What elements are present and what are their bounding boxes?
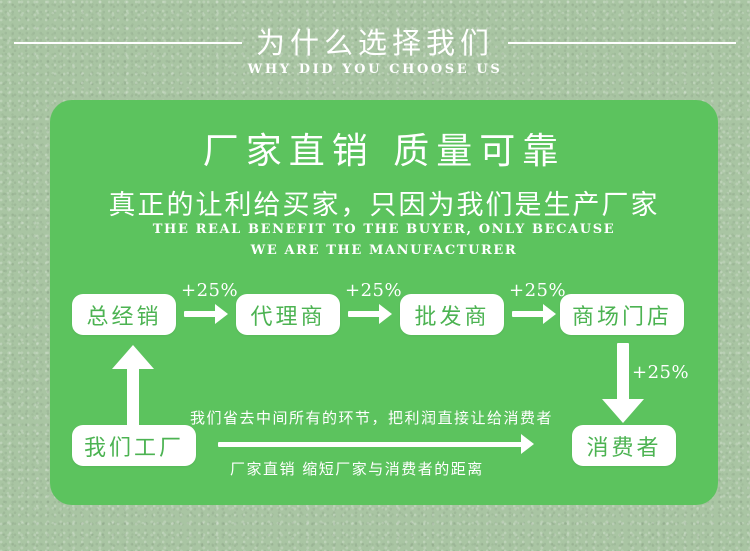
- arrow-shaft: [184, 311, 216, 317]
- header-subtitle: WHY DID YOU CHOOSE US: [0, 62, 750, 77]
- flow-box-factory: 我们工厂: [72, 425, 196, 466]
- arrow-head: [521, 434, 534, 454]
- arrow-up-icon: [112, 345, 154, 431]
- markup-label: +25%: [345, 280, 402, 301]
- caption-below-arrow: 厂家直销 缩短厂家与消费者的距离: [230, 458, 484, 479]
- arrow-right-icon: [512, 304, 556, 324]
- panel-headline: 厂家直销 质量可靠: [50, 122, 718, 174]
- flow-box-wholesaler: 批发商: [400, 294, 504, 335]
- header-rule-left: [14, 42, 242, 44]
- arrow-head: [112, 345, 154, 369]
- arrow-right-icon: [184, 304, 228, 324]
- arrow-right-long-icon: [218, 434, 538, 454]
- content-panel: 厂家直销 质量可靠 真正的让利给买家，只因为我们是生产厂家 THE REAL B…: [50, 100, 718, 505]
- panel-subheadline: 真正的让利给买家，只因为我们是生产厂家: [50, 183, 718, 222]
- header-title-row: 为什么选择我们: [0, 22, 750, 64]
- arrow-shaft: [127, 367, 139, 431]
- header-rule-right: [508, 42, 736, 44]
- markup-label: +25%: [509, 280, 566, 301]
- arrow-shaft: [218, 442, 524, 447]
- flow-box-agent: 代理商: [236, 294, 340, 335]
- arrow-shaft: [512, 311, 544, 317]
- panel-english-line-1: THE REAL BENEFIT TO THE BUYER, ONLY BECA…: [50, 222, 718, 237]
- flow-box-consumer: 消费者: [572, 425, 676, 466]
- page-header: 为什么选择我们 WHY DID YOU CHOOSE US: [0, 0, 750, 100]
- flow-box-distributor: 总经销: [72, 294, 176, 335]
- arrow-head: [215, 304, 228, 324]
- arrow-shaft: [617, 343, 629, 401]
- arrow-head: [543, 304, 556, 324]
- arrow-right-icon: [348, 304, 392, 324]
- caption-above-arrow: 我们省去中间所有的环节，把利润直接让给消费者: [190, 407, 553, 428]
- panel-english-line-2: WE ARE THE MANUFACTURER: [50, 243, 718, 258]
- page-title: 为什么选择我们: [256, 29, 494, 58]
- arrow-down-icon: [602, 343, 644, 423]
- arrow-head: [379, 304, 392, 324]
- markup-label: +25%: [181, 280, 238, 301]
- arrow-shaft: [348, 311, 380, 317]
- arrow-head: [602, 399, 644, 423]
- flow-box-store: 商场门店: [560, 294, 684, 335]
